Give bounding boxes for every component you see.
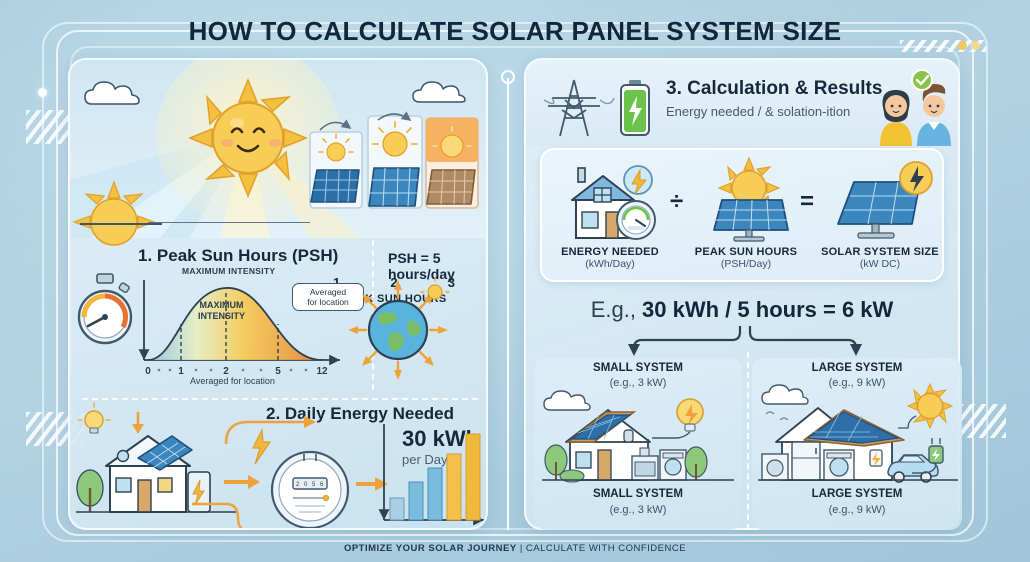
example-equation: E.g., 30 kWh / 5 hours = 6 kW [524,297,960,323]
results-subtitle: Energy needed / & solation-ition [666,104,850,119]
left-panel-section-divider [82,398,478,400]
curve-inner-label-line1: MAXIMUM [198,300,245,311]
results-title: 3. Calculation & Results [666,78,882,100]
svg-text:1: 1 [178,366,184,377]
sun-panel-icon [700,158,798,242]
step1-heading: 1. Peak Sun Hours (PSH) [138,246,338,266]
meter-wire [190,500,280,530]
footer-rest: | CALCULATE WITH CONFIDENCE [517,543,686,554]
psh-panel-group [308,112,480,232]
large-system-label-top: LARGE SYSTEM [752,362,962,374]
cloud-icon-right [412,82,470,108]
example-prefix: E.g., [591,297,642,322]
smiling-sun-icon [188,78,308,198]
formula-term-2: PEAK SUN HOURS (PSH/Day) [678,246,814,270]
footer: OPTIMIZE YOUR SOLAR JOURNEY | CALCULATE … [0,543,1030,554]
left-panel: 1 2 3 PEAK SUN HOURS 1. Peak Sun Hours (… [68,58,488,530]
panel-divider-terminal [501,70,515,84]
small-system-sub-bottom: (e.g., 3 kW) [534,504,742,516]
two-people-icon [874,72,958,146]
page-title: HOW TO CALCULATE SOLAR PANEL SYSTEM SIZE [0,16,1030,47]
small-system-card: SMALL SYSTEM (e.g., 3 kW) [534,358,742,530]
curve-inner-label: MAXIMUM INTENSITY [198,300,245,322]
curve-top-label: MAXIMUM INTENSITY [182,266,275,276]
small-house-icon [542,392,734,488]
battery-icon [618,80,652,138]
results-divider [747,352,749,530]
footer-bold: OPTIMIZE YOUR SOLAR JOURNEY [344,543,517,554]
panel-divider [507,78,509,530]
power-tower-icon [544,76,614,140]
formula-term-3-sub: (kW DC) [812,258,948,270]
large-system-card: LARGE SYSTEM (e.g., 9 kW) [752,358,962,530]
large-system-label-bottom: LARGE SYSTEM [752,488,962,500]
svg-text:5: 5 [275,366,281,377]
large-system-sub-bottom: (e.g., 9 kW) [752,504,962,516]
small-system-sub-top: (e.g., 3 kW) [534,377,742,389]
daily-energy-bar-chart [376,420,488,530]
frame-dot-terminal-left [38,88,47,97]
solar-array-icon [828,160,936,242]
example-expression: 30 kWh / 5 hours = 6 kW [642,297,893,322]
curve-inner-label-line2: INTENSITY [198,311,245,322]
small-system-label-top: SMALL SYSTEM [534,362,742,374]
formula-term-1: ENERGY NEEDED (kWh/Day) [542,246,678,270]
formula-card: ÷ = [540,148,944,282]
large-house-icon [758,388,958,488]
formula-term-3: SOLAR SYSTEM SIZE (kW DC) [812,246,948,270]
divide-operator: ÷ [670,188,683,216]
formula-term-1-label: ENERGY NEEDED [542,246,678,258]
cloud-icon-left [84,82,144,110]
formula-term-2-label: PEAK SUN HOURS [678,246,814,258]
infographic-stage: HOW TO CALCULATE SOLAR PANEL SYSTEM SIZE [0,0,1030,562]
sunrise-icon [80,178,162,244]
formula-term-3-label: SOLAR SYSTEM SIZE [812,246,948,258]
hero-baseline [148,222,310,223]
globe-icon [338,270,458,390]
equals-operator: = [800,188,814,216]
small-system-label-bottom: SMALL SYSTEM [534,488,742,500]
formula-term-1-sub: (kWh/Day) [542,258,678,270]
formula-term-2-sub: (PSH/Day) [678,258,814,270]
results-branch-arrows [600,326,890,358]
svg-text:0: 0 [145,366,151,377]
curve-axis-caption: Averaged for location [190,376,275,386]
svg-text:12: 12 [316,366,328,377]
house-meter-icon [560,162,666,240]
